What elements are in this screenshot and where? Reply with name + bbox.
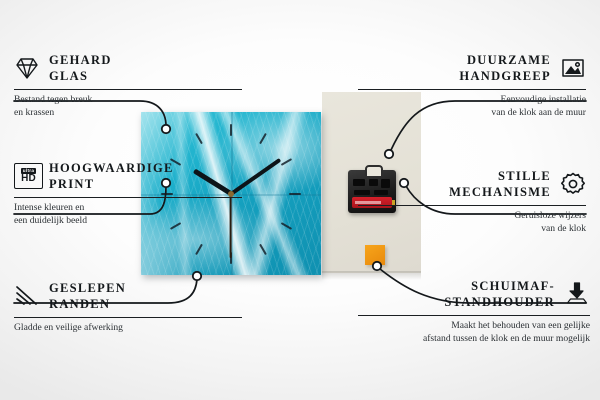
feature-description: Eenvoudige installatievan de klok aan de…: [358, 94, 586, 120]
feature-stille-mechanisme: STILLEMECHANISME Geruisloze wijzersvan d…: [358, 168, 586, 236]
feature-gehard-glas: GEHARDGLAS Bestand tegen breuken krassen: [14, 52, 242, 120]
foam-spacer: [365, 245, 385, 265]
feature-hoogwaardige-print: ultra HD HOOGWAARDIGEPRINT Intense kleur…: [14, 160, 242, 228]
arrow-down-pad-icon: [564, 281, 590, 307]
feature-title: SCHUIMAF-STANDHOUDER: [444, 278, 555, 310]
divider: [14, 317, 242, 318]
diamond-icon: [14, 55, 40, 81]
feature-geslepen-randen: GESLEPENRANDEN Gladde en veilige afwerki…: [14, 280, 242, 335]
hour-tick: [289, 193, 301, 195]
divider: [358, 89, 586, 90]
feature-title: GEHARDGLAS: [49, 52, 112, 84]
divider: [14, 197, 242, 198]
feature-description: Gladde en veilige afwerking: [14, 322, 242, 335]
feature-description: Maakt het behouden van een gelijkeafstan…: [358, 320, 590, 346]
feature-description: Bestand tegen breuken krassen: [14, 94, 242, 120]
feature-description: Geruisloze wijzersvan de klok: [358, 210, 586, 236]
feature-schuimafstandhouder: SCHUIMAF-STANDHOUDER Maakt het behouden …: [358, 278, 590, 346]
feature-description: Intense kleuren eneen duidelijk beeld: [14, 202, 242, 228]
feature-title: GESLEPENRANDEN: [49, 280, 126, 312]
divider: [14, 89, 242, 90]
feature-title: HOOGWAARDIGEPRINT: [49, 160, 174, 192]
ultra-hd-icon: ultra HD: [14, 163, 40, 189]
beveled-edges-icon: [14, 283, 40, 309]
feature-duurzame-handgreep: DUURZAMEHANDGREEP Eenvoudige installatie…: [358, 52, 586, 120]
infographic-stage: GEHARDGLAS Bestand tegen breuken krassen…: [0, 0, 600, 400]
divider: [358, 315, 590, 316]
hour-tick: [230, 124, 232, 136]
gear-icon: [560, 171, 586, 197]
picture-frame-icon: [560, 55, 586, 81]
feature-title: STILLEMECHANISME: [449, 168, 551, 200]
divider: [358, 205, 586, 206]
feature-title: DUURZAMEHANDGREEP: [459, 52, 551, 84]
